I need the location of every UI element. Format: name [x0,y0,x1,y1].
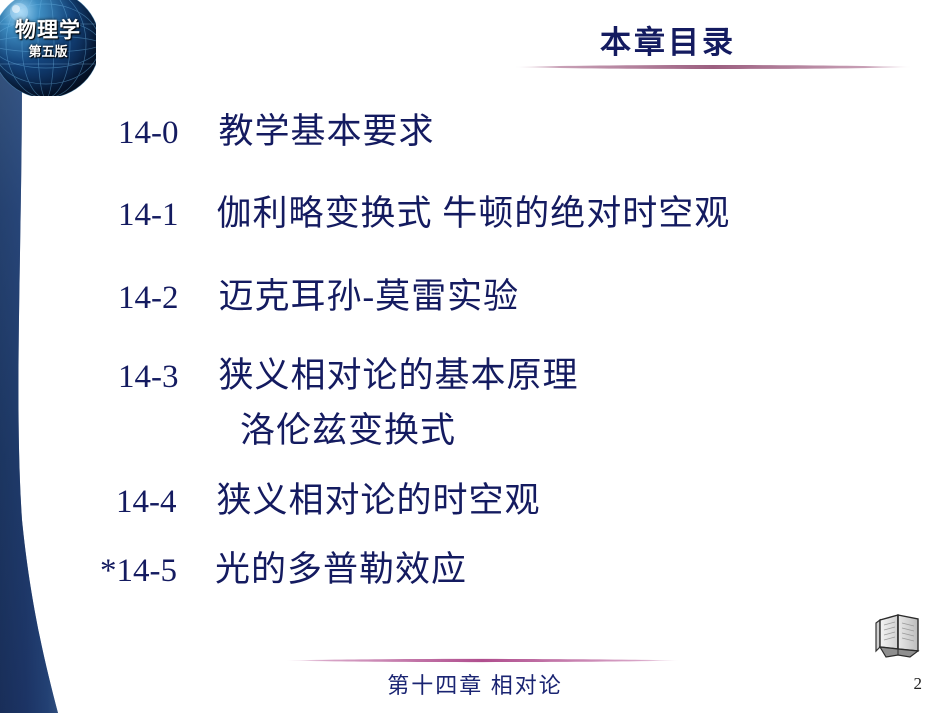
open-book-icon [870,607,928,661]
page-number: 2 [914,674,923,694]
toc-item-14-1[interactable]: 14-1 伽利略变换式 牛顿的绝对时空观 [118,185,730,236]
footer-divider [285,650,680,655]
toc-item-number: 14-4 [116,484,177,521]
table-of-contents: 14-0 教学基本要求 14-1 伽利略变换式 牛顿的绝对时空观 14-2 迈克… [0,0,950,713]
toc-item-title: 教学基本要求 [219,103,435,154]
toc-item-14-2[interactable]: 14-2 迈克耳孙-莫雷实验 [118,268,519,319]
toc-item-number: 14-2 [118,280,179,317]
toc-item-title: 迈克耳孙-莫雷实验 [219,268,520,319]
toc-item-title: 狭义相对论的时空观 [217,472,541,523]
footer-chapter-label: 第十四章 相对论 [0,668,950,700]
toc-item-number: 14-0 [118,115,179,152]
toc-item-title: 光的多普勒效应 [215,541,467,592]
toc-item-number: 14-3 [118,359,179,396]
presentation-slide: 物理学 第五版 本章目录 14-0 教学基本要求 14- [0,0,950,713]
toc-item-14-5[interactable]: *14-5 光的多普勒效应 [100,541,467,592]
toc-item-title: 狭义相对论的基本原理 [219,347,579,398]
toc-item-14-3-continuation: 洛伦兹变换式 [240,402,456,453]
toc-item-number: *14-5 [100,553,177,590]
toc-item-14-3[interactable]: 14-3 狭义相对论的基本原理 [118,347,579,398]
toc-item-title: 伽利略变换式 牛顿的绝对时空观 [217,185,731,236]
toc-item-14-0[interactable]: 14-0 教学基本要求 [118,103,435,154]
toc-item-14-4[interactable]: 14-4 狭义相对论的时空观 [116,472,541,523]
toc-item-number: 14-1 [118,197,179,234]
